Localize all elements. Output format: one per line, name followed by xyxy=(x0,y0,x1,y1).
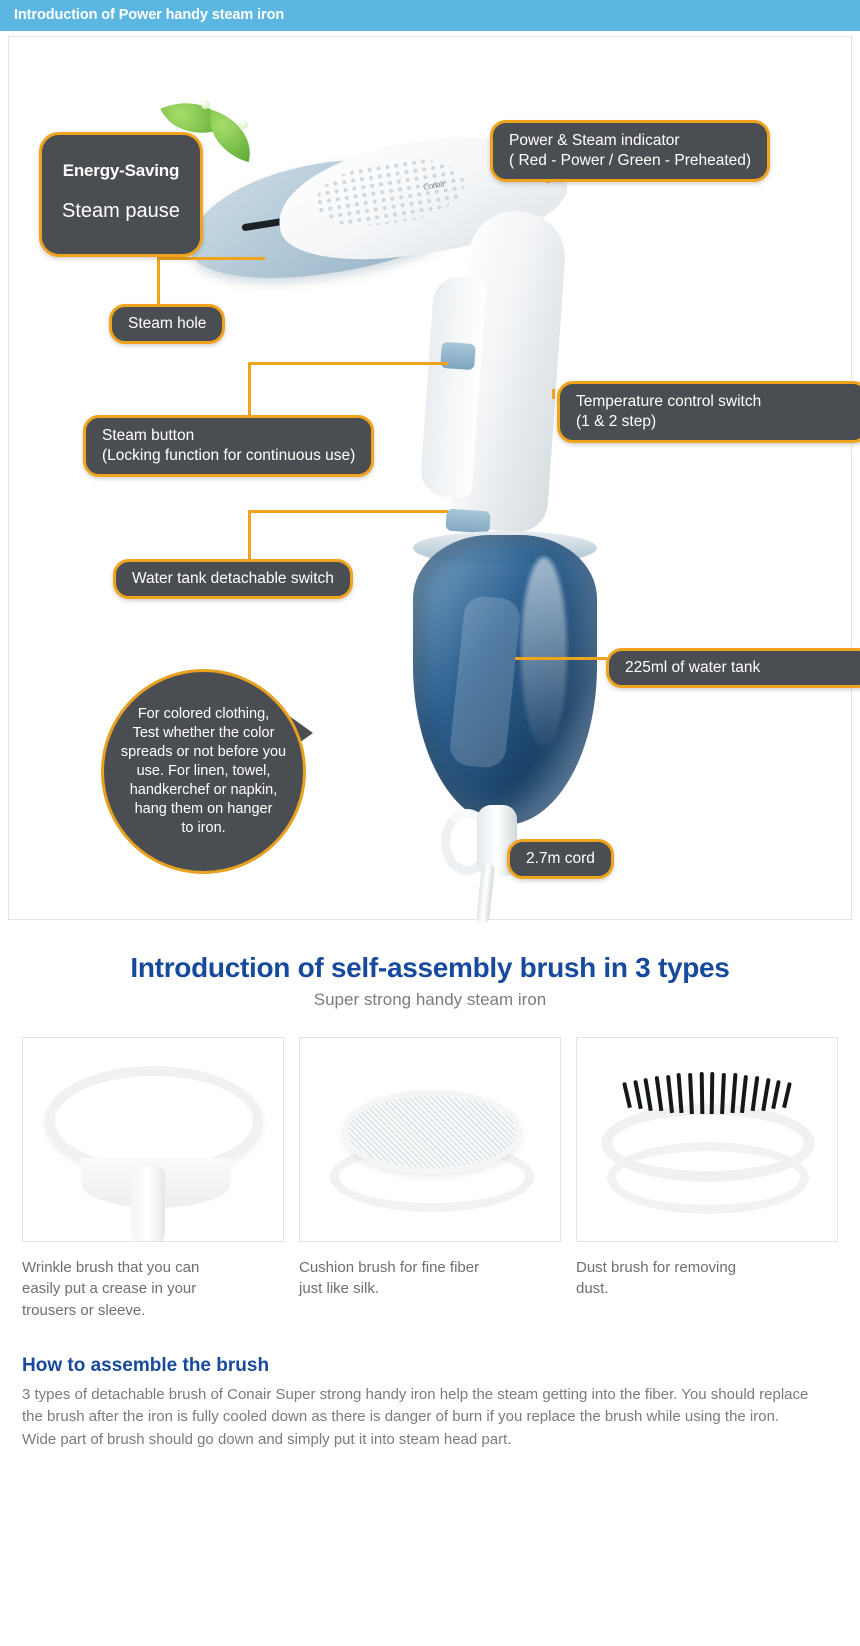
brush-caption: Dust brush for removing dust. xyxy=(576,1257,838,1300)
brush-item: Dust brush for removing dust. xyxy=(576,1037,838,1321)
brush-caption: Wrinkle brush that you can easily put a … xyxy=(22,1257,284,1321)
infographic-page: Introduction of Power handy steam iron C… xyxy=(0,0,860,1646)
care-tip-bubble: For colored clothing, Test whether the c… xyxy=(101,669,306,874)
callout-cord-length: 2.7m cord xyxy=(507,839,614,879)
brush-item: Cushion brush for fine fiber just like s… xyxy=(299,1037,561,1321)
leader-line-steam-button-h xyxy=(248,362,448,365)
water-tank-highlight xyxy=(521,557,567,747)
power-cord xyxy=(476,862,495,923)
bristle xyxy=(720,1072,726,1113)
callout-water-tank-capacity: 225ml of water tank xyxy=(606,648,860,688)
dew-drop-icon xyxy=(201,100,210,109)
temperature-switch xyxy=(440,342,476,370)
brush-section-title: Introduction of self-assembly brush in 3… xyxy=(8,952,852,984)
bristle xyxy=(655,1076,664,1112)
bristle xyxy=(710,1072,715,1114)
bristle xyxy=(782,1081,792,1107)
assembly-body: 3 types of detachable brush of Conair Su… xyxy=(22,1384,812,1452)
cushion-brush-image xyxy=(299,1037,561,1242)
brush-grid: Wrinkle brush that you can easily put a … xyxy=(22,1037,838,1321)
assembly-title: How to assemble the brush xyxy=(22,1355,838,1377)
brush-stem xyxy=(131,1166,165,1242)
bristle xyxy=(622,1081,632,1107)
brush-item: Wrinkle brush that you can easily put a … xyxy=(22,1037,284,1321)
bristle xyxy=(688,1072,694,1113)
leader-line-steam-button xyxy=(248,362,251,417)
brush-section-subtitle: Super strong handy steam iron xyxy=(8,990,852,1010)
bristle xyxy=(644,1078,653,1111)
cushion-pad xyxy=(342,1090,522,1174)
callout-steam-button: Steam button (Locking function for conti… xyxy=(83,415,374,477)
callout-energy-line1: Energy-Saving xyxy=(62,160,180,182)
assembly-instructions: How to assemble the brush 3 types of det… xyxy=(22,1355,838,1452)
callout-temperature-switch: Temperature control switch (1 & 2 step) xyxy=(557,381,860,443)
leader-line-steam-hole-h xyxy=(157,257,265,260)
leader-line-steam-hole xyxy=(157,259,160,305)
bristle xyxy=(666,1075,674,1113)
water-tank-release-switch xyxy=(445,508,490,533)
dew-drop-icon xyxy=(239,120,248,129)
page-title: Introduction of Power handy steam iron xyxy=(14,7,284,23)
bristle xyxy=(740,1075,748,1113)
callout-energy-saving: Energy-Saving Steam pause xyxy=(39,132,203,257)
callout-steam-hole: Steam hole xyxy=(109,304,225,344)
dust-brush-image xyxy=(576,1037,838,1242)
callout-water-tank-switch: Water tank detachable switch xyxy=(113,559,353,599)
leader-line-tank-switch xyxy=(248,510,251,560)
brush-ring xyxy=(601,1104,815,1182)
bristle xyxy=(772,1080,782,1110)
wrinkle-brush-image xyxy=(22,1037,284,1242)
bristle xyxy=(761,1078,770,1111)
callout-energy-line2: Steam pause xyxy=(62,199,180,225)
brush-section: Introduction of self-assembly brush in 3… xyxy=(8,928,852,1638)
bristle xyxy=(730,1073,737,1113)
bristle xyxy=(751,1076,760,1112)
callout-power-indicator: Power & Steam indicator ( Red - Power / … xyxy=(490,120,770,182)
bristle xyxy=(633,1080,643,1110)
leader-line-temperature xyxy=(552,389,555,399)
leader-line-tank-capacity xyxy=(515,657,607,660)
leader-line-tank-switch-h xyxy=(248,510,448,513)
bristle-group xyxy=(625,1070,793,1114)
leaf-icon xyxy=(200,110,259,162)
product-diagram-panel: Conair Ener xyxy=(8,36,852,920)
bristle xyxy=(699,1072,704,1114)
bristle xyxy=(677,1073,684,1113)
brush-caption: Cushion brush for fine fiber just like s… xyxy=(299,1257,561,1300)
